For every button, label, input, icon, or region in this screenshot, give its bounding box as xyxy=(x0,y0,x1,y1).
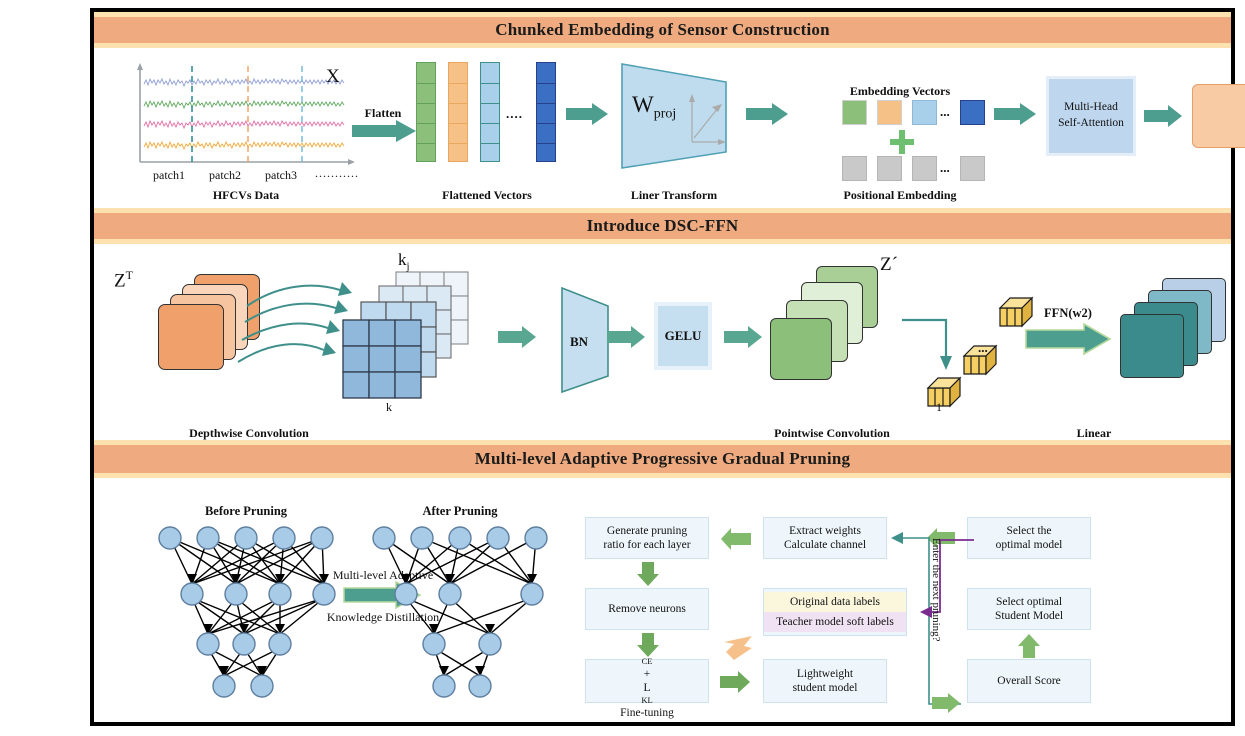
select-optimal-model-line2: optimal model xyxy=(996,538,1063,552)
original-data-labels: Original data labels xyxy=(764,592,906,612)
wproj-base: W xyxy=(632,92,654,117)
generate-pruning-ratio-box[interactable]: Generate pruning ratio for each layer xyxy=(585,517,709,559)
patch-dots-label: ........... xyxy=(315,166,359,181)
arrow-to-bn xyxy=(498,326,538,348)
arrow-to-gelu xyxy=(607,326,647,348)
positional-square-2 xyxy=(877,156,902,181)
gelu-label: GELU xyxy=(665,328,702,344)
positional-embedding-caption: Positional Embedding xyxy=(843,188,956,203)
linear-plane-1 xyxy=(1120,314,1184,378)
overall-score-line1: Overall Score xyxy=(997,674,1061,688)
depthwise-convolution-caption: Depthwise Convolution xyxy=(189,426,309,441)
cube-index-one: 1 xyxy=(936,400,942,415)
zt-base: Z xyxy=(114,270,126,291)
panel1-header-band: Chunked Embedding of Sensor Construction xyxy=(94,12,1231,48)
fine-tuning-plus: + xyxy=(641,667,652,681)
before-pruning-caption: Before Pruning xyxy=(205,504,287,519)
patch3-label: patch3 xyxy=(265,168,297,183)
panel3-header-band: Multi-level Adaptive Progressive Gradual… xyxy=(94,440,1231,478)
flattened-vectors-caption: Flattened Vectors xyxy=(442,188,532,203)
fine-tuning-box[interactable]: LCE+LKL Fine-tuning xyxy=(585,659,709,703)
overall-score-box[interactable]: Overall Score xyxy=(967,659,1091,703)
cube-dots: ... xyxy=(978,340,988,356)
panel1-body: X patch1 patch2 patch3 ........... HFCVs… xyxy=(94,48,1231,208)
attention-line-2: Self-Attention xyxy=(1058,116,1124,132)
depthwise-kernel-stack xyxy=(339,270,489,410)
arrow-finetuning-to-lightweight xyxy=(720,671,750,693)
linear-cube-stack xyxy=(928,294,1048,414)
panel1-title: Chunked Embedding of Sensor Construction xyxy=(495,20,830,40)
after-pruning-caption: After Pruning xyxy=(422,504,497,519)
embedding-square-1 xyxy=(842,100,867,125)
flattened-vector-1 xyxy=(416,62,436,162)
figure-frame: Chunked Embedding of Sensor Construction xyxy=(90,8,1235,726)
flattened-vector-4 xyxy=(536,62,556,162)
zt-plane-1 xyxy=(158,304,224,370)
select-optimal-student-box[interactable]: Select optimal Student Model xyxy=(967,588,1091,630)
remove-neurons-line1: Remove neurons xyxy=(608,602,686,616)
labels-box[interactable]: Original data labels Teacher model soft … xyxy=(763,588,907,636)
arrow-to-embedding xyxy=(746,103,790,125)
kernel-kj-label: kj xyxy=(398,250,410,272)
fine-tuning-line2: Fine-tuning xyxy=(620,706,674,720)
before-pruning-network xyxy=(156,524,346,694)
positional-square-4 xyxy=(960,156,985,181)
panel3-body: Before Pruning After Pruning xyxy=(94,478,1231,722)
multihead-self-attention-block: Multi-Head Self-Attention xyxy=(1046,76,1136,156)
generate-pruning-ratio-line1: Generate pruning xyxy=(607,524,687,538)
generate-pruning-ratio-line2: ratio for each layer xyxy=(603,538,690,552)
remove-neurons-box[interactable]: Remove neurons xyxy=(585,588,709,630)
panel2-header-band: Introduce DSC-FFN xyxy=(94,208,1231,244)
zt-superscript: T xyxy=(126,268,133,282)
liner-transform-caption: Liner Transform xyxy=(631,188,717,203)
positional-square-3 xyxy=(912,156,937,181)
arrow-to-attention xyxy=(994,103,1038,125)
signal-symbol-x: X xyxy=(326,66,340,88)
positional-dots: ... xyxy=(940,160,950,176)
enter-next-pruning-label: Enter the next pruning? xyxy=(930,538,942,642)
pointwise-convolution-caption: Pointwise Convolution xyxy=(774,426,890,441)
linear-caption: Linear xyxy=(1077,426,1112,441)
fine-tuning-l2: L xyxy=(641,681,652,695)
kernel-k-label: k xyxy=(386,400,392,415)
figure-canvas: Chunked Embedding of Sensor Construction xyxy=(0,0,1245,736)
plus-icon xyxy=(890,130,914,154)
patch1-label: patch1 xyxy=(153,168,185,183)
arrow-loop-to-overallscore xyxy=(932,693,960,713)
teacher-model-soft-labels: Teacher model soft labels xyxy=(764,612,906,632)
panel2-title: Introduce DSC-FFN xyxy=(587,216,739,236)
select-optimal-model-line1: Select the xyxy=(1006,524,1051,538)
panel2-body: ZT xyxy=(94,244,1231,440)
panel3-title: Multi-level Adaptive Progressive Gradual… xyxy=(475,449,850,469)
fine-tuning-sub1: CE xyxy=(641,656,652,667)
extract-weights-line2: Calculate channel xyxy=(784,538,866,552)
zprime-symbol: Z´ xyxy=(880,254,898,276)
extract-weights-line1: Extract weights xyxy=(789,524,861,538)
attention-line-1: Multi-Head xyxy=(1064,100,1118,116)
select-optimal-student-line1: Select optimal xyxy=(996,595,1062,609)
arrow-to-liner-transform xyxy=(566,103,610,125)
positional-square-1 xyxy=(842,156,867,181)
bn-label: BN xyxy=(570,334,588,350)
embedding-square-2 xyxy=(877,100,902,125)
arrow-generate-to-remove xyxy=(637,562,659,586)
gelu-block: GELU xyxy=(654,302,712,370)
zt-symbol: ZT xyxy=(114,268,133,292)
arrow-extract-to-generate xyxy=(721,528,751,550)
embedding-square-3 xyxy=(912,100,937,125)
select-optimal-student-line2: Student Model xyxy=(995,609,1063,623)
flattened-vector-2 xyxy=(448,62,468,162)
wproj-subscript: proj xyxy=(654,107,677,122)
flatten-label: Flatten xyxy=(365,106,402,121)
flatten-arrow-icon xyxy=(352,120,418,142)
purple-arrow-to-labels xyxy=(916,534,982,624)
lightweight-student-line2: student model xyxy=(793,681,858,695)
kernel-kj-subscript: j xyxy=(407,260,410,272)
arrow-to-output-z xyxy=(1144,105,1184,127)
pointwise-plane-1 xyxy=(770,318,832,380)
lightweight-student-box[interactable]: Lightweight student model xyxy=(763,659,887,703)
arrow-remove-to-finetuning xyxy=(637,633,659,657)
embedding-dots: ... xyxy=(940,104,950,120)
wproj-symbol: Wproj xyxy=(632,92,676,123)
ffn-label: FFN(w2) xyxy=(1044,306,1092,321)
embedding-square-4 xyxy=(960,100,985,125)
arrow-labels-to-finetuning xyxy=(720,636,754,666)
arrow-to-pointwise xyxy=(724,326,764,348)
after-pruning-network xyxy=(370,524,560,694)
embedding-vectors-title: Embedding Vectors xyxy=(850,84,950,99)
extract-weights-box[interactable]: Extract weights Calculate channel xyxy=(763,517,887,559)
lightweight-student-line1: Lightweight xyxy=(797,667,853,681)
kernel-kj-base: k xyxy=(398,250,407,269)
patch2-label: patch2 xyxy=(209,168,241,183)
fine-tuning-sub2: KL xyxy=(641,695,652,706)
flattened-vector-3 xyxy=(480,62,500,162)
arrow-overallscore-to-selectstudent xyxy=(1018,634,1040,658)
hfcvs-caption: HFCVs Data xyxy=(213,188,279,203)
select-optimal-model-box[interactable]: Select the optimal model xyxy=(967,517,1091,559)
ffn-arrow-icon xyxy=(1026,324,1112,354)
output-z-block xyxy=(1192,84,1245,148)
flattened-dots: .... xyxy=(506,106,523,122)
